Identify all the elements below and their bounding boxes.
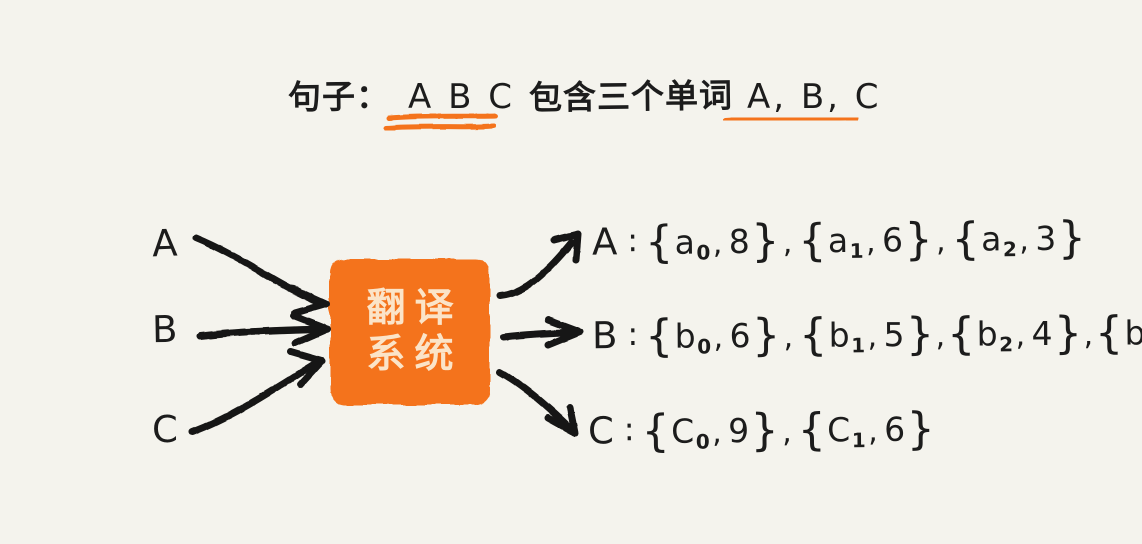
input-label-b: B (152, 308, 178, 351)
pair-separator: , (936, 224, 946, 259)
pair-symbol: a (674, 223, 695, 262)
pair-separator: , (782, 415, 792, 450)
brace-open: { (1095, 316, 1124, 351)
input-label-a: A (151, 222, 178, 266)
pair-symbol: a (828, 221, 849, 260)
brace-open: { (645, 225, 674, 260)
pair-symbol: b (976, 314, 998, 353)
brace-open: { (641, 414, 670, 449)
pair-symbol: a (981, 219, 1002, 258)
pair-comma: , (1015, 318, 1025, 353)
sentence-title: 句子： A B C 包含三个单词 A, B, C (288, 70, 882, 122)
pair-value: 6 (729, 316, 751, 355)
brace-close: } (750, 413, 779, 448)
pair-symbol: C (827, 410, 851, 449)
pair-symbol: C (671, 412, 695, 451)
pair-comma: , (1019, 223, 1029, 258)
pair-comma: , (713, 320, 723, 355)
pair-comma: , (867, 319, 877, 354)
output-colon: : (627, 315, 638, 353)
output-colon: : (624, 410, 635, 448)
pair-separator: , (1083, 318, 1093, 353)
output-pair-list: {a0,8},{a1,6},{a2,3} (645, 217, 1087, 262)
output-key: B (592, 314, 619, 357)
brace-close: } (907, 411, 936, 446)
output-pair-list: {C0,9},{C1,6} (641, 408, 935, 451)
brace-close: } (751, 224, 780, 259)
pair-subscript: 0 (697, 334, 712, 358)
pair-separator: , (783, 225, 793, 260)
translation-system-label: 翻译 系统 (327, 256, 493, 408)
pair-comma: , (868, 414, 878, 449)
arrow-input-c (192, 352, 322, 432)
brace-close: } (1054, 316, 1083, 351)
output-key: C (588, 409, 615, 452)
pair-symbol: b (829, 315, 851, 354)
title-prefix: 句子： (288, 69, 391, 118)
box-line-2: 系统 (357, 333, 462, 377)
brace-open: { (799, 318, 828, 353)
pair-comma: , (713, 226, 723, 261)
arrow-output-b (504, 320, 580, 345)
pair-value: 5 (883, 315, 905, 354)
title-middle: 包含三个单词 (529, 69, 734, 119)
output-key: A (592, 220, 619, 263)
brace-open: { (645, 319, 674, 354)
arrow-output-a (500, 234, 578, 296)
output-pair: {b0,6} (645, 315, 781, 356)
pair-subscript: 1 (852, 428, 867, 452)
brace-open: { (947, 317, 976, 352)
title-words-text: A, B, C (747, 77, 882, 117)
pair-subscript: 0 (696, 429, 711, 453)
brace-close: } (1058, 220, 1087, 255)
output-pair: {b1,5} (799, 314, 935, 355)
pair-subscript: 2 (1003, 237, 1018, 261)
pair-separator: , (935, 319, 945, 354)
output-pair: {a2,3} (951, 217, 1086, 258)
brace-open: { (798, 223, 827, 258)
output-pair: {a0,8} (645, 221, 780, 262)
title-words-underlined: A, B, C (747, 77, 882, 117)
title-sentence-text: A B C (408, 77, 515, 117)
brace-close: } (906, 317, 935, 352)
pair-separator: , (783, 320, 793, 355)
arrow-input-b (200, 316, 327, 343)
output-pair: {b2,4} (947, 313, 1083, 354)
brace-open: { (951, 222, 980, 257)
output-row-a: A:{a0,8},{a1,6},{a2,3} (592, 215, 1087, 263)
arrow-output-c (500, 372, 575, 433)
brace-close: } (752, 318, 781, 353)
translation-system-box: 翻译 系统 (327, 256, 493, 408)
pair-symbol: b (1124, 313, 1142, 352)
output-row-c: C:{C0,9},{C1,6} (588, 406, 936, 452)
pair-value: 4 (1031, 314, 1053, 353)
output-colon: : (627, 221, 638, 259)
output-pair: {b3,2} (1095, 312, 1142, 353)
pair-subscript: 2 (999, 332, 1014, 356)
input-label-c: C (152, 408, 179, 451)
pair-value: 6 (884, 410, 906, 449)
output-pair: {C0,9} (641, 410, 779, 451)
pair-comma: , (712, 415, 722, 450)
arrow-input-a (196, 238, 326, 313)
output-pair: {a1,6} (798, 219, 933, 260)
pair-subscript: 0 (696, 240, 711, 264)
pair-value: 9 (728, 411, 750, 450)
pair-value: 8 (729, 222, 751, 261)
title-sentence-underlined: A B C (408, 77, 515, 117)
output-pair: {C1,6} (798, 408, 936, 449)
pair-subscript: 1 (851, 333, 866, 357)
pair-symbol: b (675, 317, 697, 356)
pair-comma: , (866, 225, 876, 260)
brace-close: } (904, 222, 933, 257)
pair-value: 3 (1035, 219, 1057, 258)
brace-open: { (798, 412, 827, 447)
box-line-1: 翻译 (357, 287, 462, 331)
output-pair-list: {b0,6},{b1,5},{b2,4},{b3,2} (645, 312, 1142, 356)
output-row-b: B:{b0,6},{b1,5},{b2,4},{b3,2} (592, 310, 1142, 357)
pair-value: 6 (882, 220, 904, 259)
pair-subscript: 1 (850, 239, 865, 263)
